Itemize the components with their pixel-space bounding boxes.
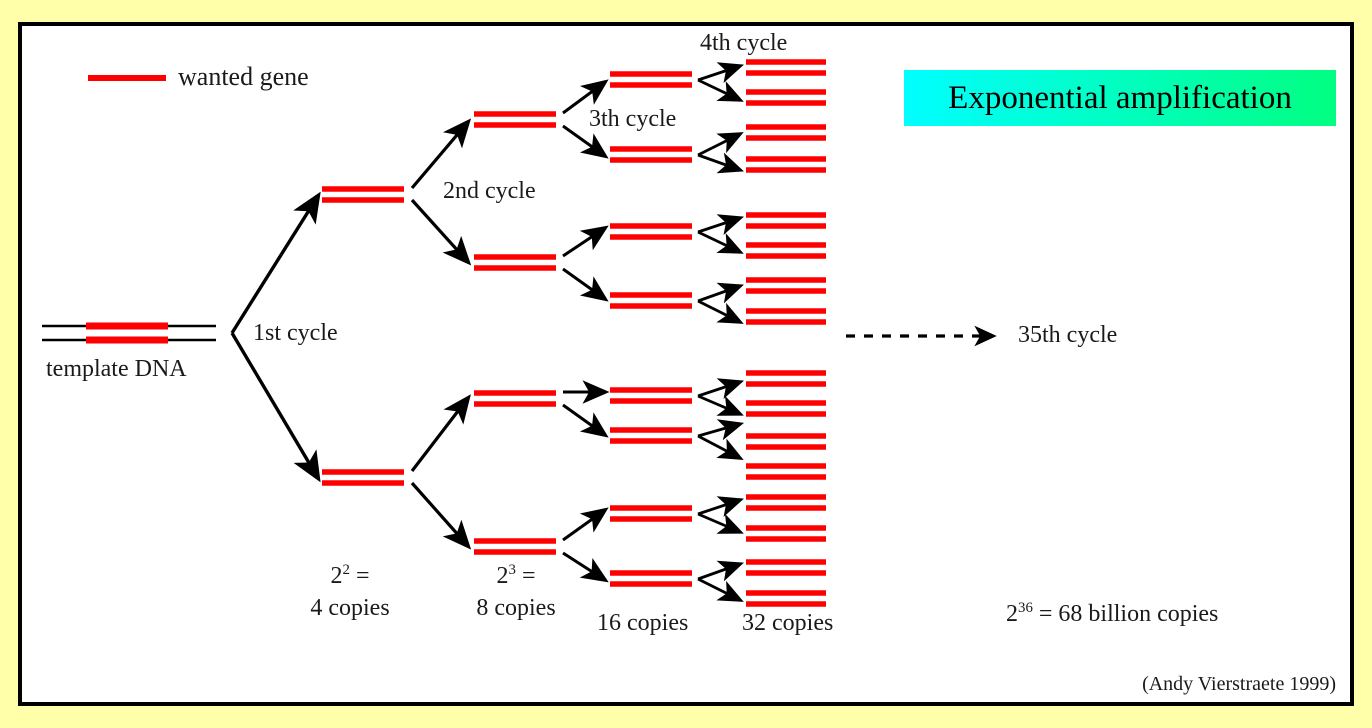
template-dna (42, 326, 216, 340)
cycle-4-molecules (746, 62, 826, 604)
count-4-text: 4 copies (296, 592, 404, 624)
count-8-copies: 23 = 8 copies (462, 560, 570, 625)
cycle-3-arrows (563, 82, 605, 580)
cycle-3-label: 3th cycle (589, 106, 676, 133)
cycle-4-arrows (698, 66, 740, 600)
legend-label: wanted gene (178, 62, 309, 92)
cycle-35-label: 35th cycle (1018, 322, 1117, 349)
title-banner: Exponential amplification (904, 70, 1336, 126)
count-8-formula: 23 = (462, 560, 570, 592)
count-4-formula: 22 = (296, 560, 404, 592)
title-text: Exponential amplification (904, 70, 1336, 126)
template-dna-label: template DNA (46, 356, 187, 383)
figure-root: Exponential amplification wanted gene te… (0, 0, 1372, 728)
count-8-text: 8 copies (462, 592, 570, 624)
cycle-4-label: 4th cycle (700, 30, 787, 57)
count-32-copies: 32 copies (742, 610, 833, 637)
cycle-3-molecules (610, 74, 692, 584)
count-4-copies: 22 = 4 copies (296, 560, 404, 625)
credit-line: (Andy Vierstraete 1999) (1142, 673, 1336, 696)
cycle-1-label: 1st cycle (253, 320, 338, 347)
count-16-copies: 16 copies (597, 610, 688, 637)
count-final-copies: 236 = 68 billion copies (1006, 600, 1218, 628)
cycle-2-label: 2nd cycle (443, 178, 536, 205)
